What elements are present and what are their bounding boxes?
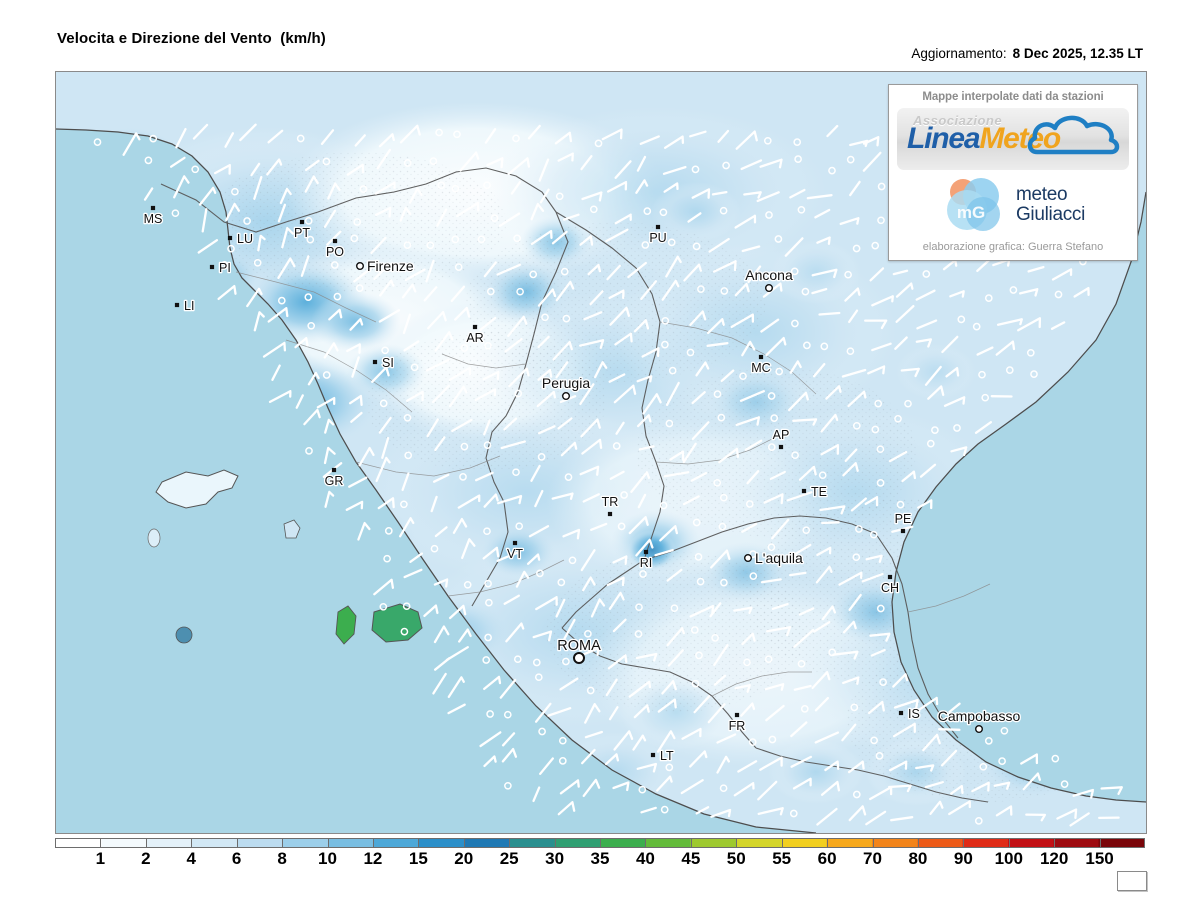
giuliacci-wordmark: meteo Giuliacci bbox=[1016, 185, 1085, 225]
colorbar-tick bbox=[918, 838, 919, 848]
logo-card-caption: Mappe interpolate dati da stazioni bbox=[897, 91, 1129, 103]
colorbar-tick bbox=[237, 838, 238, 848]
wind-barb bbox=[939, 729, 959, 730]
city-label: MC bbox=[751, 361, 770, 375]
wind-barb bbox=[822, 522, 839, 523]
giuliacci-line-1: meteo bbox=[1016, 185, 1085, 205]
colorbar-tick-label: 80 bbox=[908, 849, 927, 869]
colorbar-tick bbox=[418, 838, 419, 848]
colorbar-tick bbox=[464, 838, 465, 848]
colorbar-tick-label: 20 bbox=[454, 849, 473, 869]
provider-logo-card: Mappe interpolate dati da stazioni Assoc… bbox=[888, 84, 1138, 261]
city-label: FR bbox=[729, 719, 746, 733]
city-label: GR bbox=[325, 474, 344, 488]
colorbar-tick bbox=[373, 838, 374, 848]
colorbar-tick bbox=[873, 838, 874, 848]
cloud-icon bbox=[1027, 112, 1123, 158]
update-timestamp: Aggiornamento:8 Dec 2025, 12.35 LT bbox=[897, 31, 1143, 76]
city-label: Campobasso bbox=[938, 708, 1021, 724]
colorbar-tick bbox=[736, 838, 737, 848]
city-label: L'aquila bbox=[755, 550, 803, 566]
colorbar-tick-label: 12 bbox=[363, 849, 382, 869]
city-label: CH bbox=[881, 581, 899, 595]
colorbar-tick-label: 4 bbox=[187, 849, 196, 869]
city-label: LT bbox=[660, 749, 674, 763]
colorbar-tick-label: 90 bbox=[954, 849, 973, 869]
city-label: PO bbox=[326, 245, 344, 259]
giuliacci-line-2: Giuliacci bbox=[1016, 205, 1085, 225]
colorbar-tick-label: 10 bbox=[318, 849, 337, 869]
city-label: LU bbox=[237, 232, 253, 246]
city-label: Ancona bbox=[745, 267, 793, 283]
city-label: PT bbox=[294, 226, 310, 240]
colorbar-tick bbox=[146, 838, 147, 848]
lineameteo-logo: Associazione LineaMeteo bbox=[897, 108, 1129, 170]
city-label: VT bbox=[507, 547, 523, 561]
colorbar-tick-label: 50 bbox=[727, 849, 746, 869]
city-label: PE bbox=[895, 512, 912, 526]
colorbar-tick bbox=[282, 838, 283, 848]
colorbar-tick-label: 70 bbox=[863, 849, 882, 869]
colorbar-tick bbox=[782, 838, 783, 848]
colorbar-tick-label: 100 bbox=[995, 849, 1023, 869]
city-label: AP bbox=[773, 428, 790, 442]
colorbar-tick bbox=[509, 838, 510, 848]
city-label: TE bbox=[811, 485, 827, 499]
colorbar-tick-label: 60 bbox=[818, 849, 837, 869]
colorbar-tick bbox=[600, 838, 601, 848]
city-label: MS bbox=[144, 212, 163, 226]
colorbar-legend[interactable]: 1246810121520253035404550556070809010012… bbox=[55, 838, 1145, 852]
update-label: Aggiornamento: bbox=[911, 46, 1006, 61]
city-label: LI bbox=[184, 299, 194, 313]
wind-map[interactable]: MSLUPTPOPILIFirenzeARSIPUAnconaMCPerugia… bbox=[55, 71, 1147, 834]
city-label: AR bbox=[466, 331, 483, 345]
colorbar-tick-label: 55 bbox=[772, 849, 791, 869]
colorbar-tick bbox=[328, 838, 329, 848]
colorbar-tick bbox=[191, 838, 192, 848]
colorbar-tick bbox=[100, 838, 101, 848]
colorbar-tick-label: 15 bbox=[409, 849, 428, 869]
svg-text:mG: mG bbox=[957, 203, 985, 222]
city-label: PI bbox=[219, 261, 231, 275]
colorbar-tick bbox=[1054, 838, 1055, 848]
wind-map-page: Velocita e Direzione del Vento (km/h) Ag… bbox=[0, 0, 1200, 900]
colorbar-tick bbox=[1009, 838, 1010, 848]
city-label: SI bbox=[382, 356, 394, 370]
colorbar-tick bbox=[1100, 838, 1101, 848]
colorbar-tick-label: 1 bbox=[96, 849, 105, 869]
colorbar-tick-label: 8 bbox=[277, 849, 286, 869]
update-value: 8 Dec 2025, 12.35 LT bbox=[1013, 46, 1143, 61]
colorbar-tick-label: 25 bbox=[500, 849, 519, 869]
logo-card-footer: elaborazione grafica: Guerra Stefano bbox=[897, 241, 1129, 253]
colorbar-tick-label: 30 bbox=[545, 849, 564, 869]
island-montecristo bbox=[176, 627, 192, 643]
lineameteo-word-linea: Linea bbox=[907, 122, 979, 155]
city-label: TR bbox=[602, 495, 619, 509]
city-label: Firenze bbox=[367, 258, 414, 274]
colorbar-tick bbox=[555, 838, 556, 848]
mg-monogram-icon: mG bbox=[941, 174, 1007, 236]
colorbar-tick-label: 120 bbox=[1040, 849, 1068, 869]
corner-box[interactable] bbox=[1117, 871, 1147, 891]
wind-barb bbox=[820, 313, 840, 315]
colorbar-tick-label: 2 bbox=[141, 849, 150, 869]
colorbar-tick bbox=[827, 838, 828, 848]
colorbar-tick-label: 150 bbox=[1085, 849, 1113, 869]
page-title: Velocita e Direzione del Vento (km/h) bbox=[57, 30, 326, 47]
city-label: Perugia bbox=[542, 375, 590, 391]
city-label: IS bbox=[908, 707, 920, 721]
colorbar-tick-label: 40 bbox=[636, 849, 655, 869]
colorbar-tick-label: 35 bbox=[591, 849, 610, 869]
colorbar-tick bbox=[691, 838, 692, 848]
city-label: ROMA bbox=[557, 638, 601, 654]
colorbar-tick bbox=[645, 838, 646, 848]
meteo-giuliacci-logo: mG meteo Giuliacci bbox=[897, 174, 1129, 236]
colorbar-tick-label: 45 bbox=[681, 849, 700, 869]
colorbar-tick bbox=[963, 838, 964, 848]
city-label: PU bbox=[649, 231, 666, 245]
colorbar-tick-label: 6 bbox=[232, 849, 241, 869]
city-label: RI bbox=[640, 556, 653, 570]
